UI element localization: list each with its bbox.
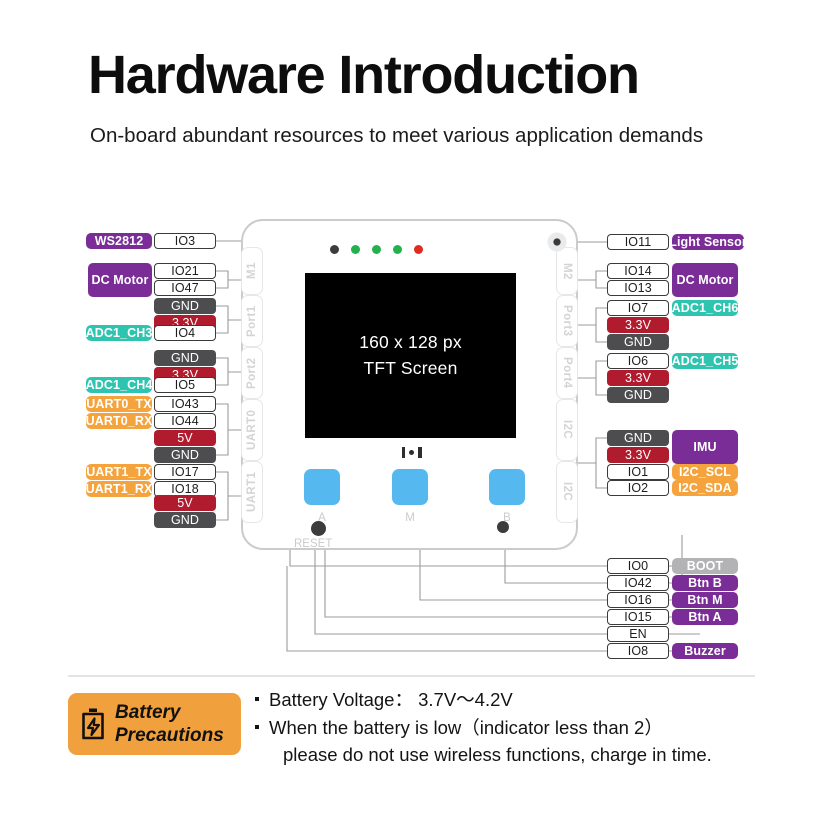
badge-bottom-btn-m: Btn M [672, 592, 738, 608]
pin-bottom-io16[interactable]: IO16 [607, 592, 669, 608]
pin-left-gnd[interactable]: GND [154, 350, 216, 366]
chip-line-1: Battery [115, 701, 224, 724]
pin-left-5v[interactable]: 5V [154, 495, 216, 511]
port-tab-i2c-2[interactable]: I2C [556, 461, 578, 523]
badge-right-adc1-ch5: ADC1_CH5 [672, 353, 738, 369]
footer-notes: Battery Voltage： 3.7V～4.2V When the batt… [255, 687, 775, 770]
led-4 [414, 245, 423, 254]
pin-bottom-io42[interactable]: IO42 [607, 575, 669, 591]
badge-left-uart0-rx: UART0_RX [86, 413, 152, 429]
badge-left-ws2812: WS2812 [86, 233, 152, 249]
led-2 [372, 245, 381, 254]
footer-divider [68, 675, 755, 677]
badge-bottom-btn-a: Btn A [672, 609, 738, 625]
pin-left-io43[interactable]: IO43 [154, 396, 216, 412]
pin-right-io2[interactable]: IO2 [607, 480, 669, 496]
badge-left-adc1-ch4: ADC1_CH4 [86, 377, 152, 393]
chip-line-2: Precautions [115, 724, 224, 747]
pin-right-33v[interactable]: 3.3V [607, 370, 669, 386]
port-tab-port1[interactable]: Port1 [241, 295, 263, 347]
pin-left-io21[interactable]: IO21 [154, 263, 216, 279]
screen-line-1: 160 x 128 px [359, 330, 462, 355]
badge-bottom-buzzer: Buzzer [672, 643, 738, 659]
screen-line-2: TFT Screen [363, 356, 457, 381]
badge-left-dc-motor: DC Motor [88, 263, 152, 297]
pin-left-gnd[interactable]: GND [154, 447, 216, 463]
pin-left-5v[interactable]: 5V [154, 430, 216, 446]
port-tab-port3[interactable]: Port3 [556, 295, 578, 347]
pin-left-gnd[interactable]: GND [154, 298, 216, 314]
badge-right-imu: IMU [672, 430, 738, 464]
pin-right-io13[interactable]: IO13 [607, 280, 669, 296]
port-tab-uart1[interactable]: UART1 [241, 461, 263, 523]
pin-right-io1[interactable]: IO1 [607, 464, 669, 480]
pin-right-io11[interactable]: IO11 [607, 234, 669, 250]
button-a[interactable] [304, 469, 340, 505]
badge-bottom-boot: BOOT [672, 558, 738, 574]
reset-label: RESET [294, 538, 332, 550]
pin-left-io4[interactable]: IO4 [154, 325, 216, 341]
badge-right-light-sensor: Light Sensor [672, 234, 744, 250]
port-tab-m1[interactable]: M1 [241, 247, 263, 295]
pin-right-io6[interactable]: IO6 [607, 353, 669, 369]
reset-button[interactable] [311, 521, 326, 536]
port-tab-port4[interactable]: Port4 [556, 347, 578, 399]
pin-left-io47[interactable]: IO47 [154, 280, 216, 296]
pin-right-gnd[interactable]: GND [607, 430, 669, 446]
badge-left-adc1-ch3: ADC1_CH3 [86, 325, 152, 341]
pin-left-io17[interactable]: IO17 [154, 464, 216, 480]
pin-right-io7[interactable]: IO7 [607, 300, 669, 316]
led-3 [393, 245, 402, 254]
pin-right-33v[interactable]: 3.3V [607, 447, 669, 463]
speaker-icon [398, 447, 425, 458]
pin-left-io3[interactable]: IO3 [154, 233, 216, 249]
pin-right-33v[interactable]: 3.3V [607, 317, 669, 333]
pin-left-io44[interactable]: IO44 [154, 413, 216, 429]
port-tab-i2c-1[interactable]: I2C [556, 399, 578, 461]
badge-bottom-btn-b: Btn B [672, 575, 738, 591]
note-low-battery-sub: please do not use wireless functions, ch… [269, 742, 775, 768]
btn-b-pad [497, 521, 509, 533]
port-tab-m2[interactable]: M2 [556, 247, 578, 295]
badge-right-i2c-scl: I2C_SCL [672, 464, 738, 480]
pin-left-io5[interactable]: IO5 [154, 377, 216, 393]
pin-bottom-en[interactable]: EN [607, 626, 669, 642]
battery-charge-icon [80, 707, 106, 741]
button-b[interactable] [489, 469, 525, 505]
pin-bottom-io8[interactable]: IO8 [607, 643, 669, 659]
hardware-introduction-page: Hardware Introduction On-board abundant … [0, 0, 823, 823]
pin-left-gnd[interactable]: GND [154, 512, 216, 528]
note-battery-voltage: Battery Voltage： 3.7V～4.2V [255, 687, 775, 713]
button-m[interactable] [392, 469, 428, 505]
port-tab-port2[interactable]: Port2 [241, 347, 263, 399]
note-low-battery: When the battery is low（indicator less t… [255, 715, 775, 768]
led-1 [351, 245, 360, 254]
pin-right-gnd[interactable]: GND [607, 334, 669, 350]
tft-screen: 160 x 128 px TFT Screen [305, 273, 516, 438]
badge-left-uart0-tx: UART0_TX [86, 396, 152, 412]
pin-bottom-io0[interactable]: IO0 [607, 558, 669, 574]
pin-bottom-io15[interactable]: IO15 [607, 609, 669, 625]
badge-right-i2c-sda: I2C_SDA [672, 480, 738, 496]
led-power [330, 245, 339, 254]
badge-right-dc-motor: DC Motor [672, 263, 738, 297]
pin-right-gnd[interactable]: GND [607, 387, 669, 403]
badge-left-uart1-tx: UART1_TX [86, 464, 152, 480]
port-tab-uart0[interactable]: UART0 [241, 399, 263, 461]
light-sensor-icon [547, 232, 567, 252]
button-m-label: M [392, 512, 428, 524]
battery-precautions-chip: Battery Precautions [68, 693, 241, 755]
badge-left-uart1-rx: UART1_RX [86, 481, 152, 497]
note-low-battery-main: When the battery is low（indicator less t… [269, 717, 663, 738]
pin-right-io14[interactable]: IO14 [607, 263, 669, 279]
badge-right-adc1-ch6: ADC1_CH6 [672, 300, 738, 316]
